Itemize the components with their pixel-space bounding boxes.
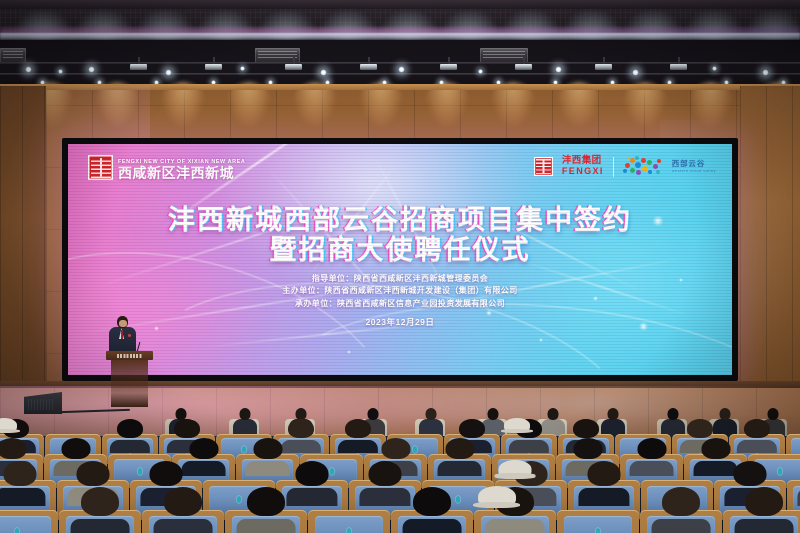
audience-member bbox=[189, 438, 218, 476]
ceiling-soffit bbox=[0, 0, 800, 9]
auditorium-seat bbox=[557, 510, 639, 533]
fengxi-seal-icon bbox=[534, 157, 553, 176]
stage-spotlight bbox=[440, 64, 457, 70]
lighting-truss-zone bbox=[0, 40, 800, 88]
cove-light-strip bbox=[0, 33, 800, 40]
audience-member bbox=[637, 438, 666, 476]
sponsor-logos: 沣西集团 FENGXI bbox=[534, 156, 716, 177]
stage-spotlight bbox=[515, 64, 532, 70]
auditorium-seat bbox=[0, 510, 58, 533]
stage-spotlight bbox=[285, 64, 302, 70]
audience-seating-area bbox=[0, 436, 800, 533]
conference-hall-photo: FENGXI NEW CITY OF XIXIAN NEW AREA 西咸新区沣… bbox=[0, 0, 800, 533]
ceiling-lamp bbox=[240, 66, 245, 71]
ceiling-lamp bbox=[632, 69, 639, 76]
cloud-valley-english: western cloud valley bbox=[672, 169, 716, 173]
stage-spotlight bbox=[595, 64, 612, 70]
ceiling-lamp bbox=[320, 69, 327, 76]
seat-number-tag bbox=[237, 496, 242, 503]
fengxi-group-chinese: 沣西集团 bbox=[562, 156, 604, 166]
lectern-plaque bbox=[117, 354, 142, 358]
event-date: 2023年12月29日 bbox=[68, 316, 732, 328]
stage-spotlight bbox=[360, 64, 377, 70]
audience-member bbox=[701, 438, 730, 476]
stage-spotlight bbox=[130, 64, 147, 70]
audience-member bbox=[295, 461, 328, 506]
audience-member bbox=[117, 419, 143, 453]
audience-cap bbox=[0, 418, 17, 432]
seat-number-tag bbox=[15, 528, 20, 533]
audience-member bbox=[164, 487, 202, 533]
fengxi-group-english: FENGXI bbox=[562, 167, 604, 176]
audience-member bbox=[587, 461, 620, 506]
spotlight-arm bbox=[138, 57, 140, 64]
seat-number-tag bbox=[596, 528, 601, 533]
hvac-diffuser bbox=[0, 48, 26, 63]
led-screen: FENGXI NEW CITY OF XIXIAN NEW AREA 西咸新区沣… bbox=[68, 144, 732, 375]
seat-number-tag bbox=[329, 468, 334, 475]
event-title: 沣西新城西部云谷招商项目集中签约 暨招商大使聘任仪式 bbox=[68, 206, 732, 266]
audience-member bbox=[288, 419, 314, 453]
audience-member bbox=[253, 438, 282, 476]
seat-number-tag bbox=[777, 468, 782, 475]
cloud-valley-dots-icon bbox=[623, 156, 663, 177]
spotlight-arm bbox=[678, 57, 680, 64]
organizer-unit-line: 承办单位：陕西省西咸新区信息产业园投资发展有限公司 bbox=[68, 298, 732, 310]
spotlight-arm bbox=[523, 57, 525, 64]
ceiling-lamp bbox=[762, 69, 769, 76]
spotlight-arm bbox=[213, 57, 215, 64]
logo-divider bbox=[613, 157, 614, 177]
ceiling-lamp bbox=[165, 69, 172, 76]
spotlight-arm bbox=[368, 57, 370, 64]
event-title-line-1: 沣西新城西部云谷招商项目集中签约 bbox=[68, 206, 732, 236]
audience-cap bbox=[478, 486, 516, 507]
ceiling-lamp bbox=[398, 66, 405, 73]
xixian-brand-lockup: FENGXI NEW CITY OF XIXIAN NEW AREA 西咸新区沣… bbox=[88, 155, 245, 180]
audience-member bbox=[345, 419, 371, 453]
auditorium-seat bbox=[308, 510, 390, 533]
ceiling-lamp bbox=[712, 66, 717, 71]
audience-member bbox=[745, 487, 783, 533]
led-screen-bezel: FENGXI NEW CITY OF XIXIAN NEW AREA 西咸新区沣… bbox=[62, 138, 738, 381]
audience-member bbox=[744, 419, 770, 453]
seat-number-tag bbox=[242, 446, 247, 453]
audience-member bbox=[445, 438, 474, 476]
spotlight-arm bbox=[293, 57, 295, 64]
hvac-diffuser bbox=[480, 48, 528, 63]
cloud-valley-chinese: 西部云谷 bbox=[672, 160, 716, 168]
ceiling-lamp bbox=[555, 66, 562, 73]
audience-member bbox=[662, 487, 700, 533]
audience-cap bbox=[504, 418, 530, 432]
ceiling-lamp bbox=[478, 69, 483, 74]
ceiling-lamp bbox=[88, 66, 95, 73]
audience-member bbox=[3, 461, 36, 506]
audience-member bbox=[413, 487, 451, 533]
ceiling-lamp bbox=[25, 66, 32, 73]
brand-chinese-name: 西咸新区沣西新城 bbox=[118, 166, 245, 180]
seal-stamp-icon bbox=[88, 155, 113, 180]
guiding-unit-line: 指导单位：陕西省西咸新区沣西新城管理委员会 bbox=[68, 273, 732, 285]
audience-member bbox=[81, 487, 119, 533]
ceiling-lamp bbox=[58, 69, 63, 74]
host-unit-line: 主办单位：陕西省西咸新区沣西新城开发建设（集团）有限公司 bbox=[68, 285, 732, 297]
lectern bbox=[106, 351, 153, 407]
audience-cap bbox=[499, 460, 532, 478]
event-title-line-2: 暨招商大使聘任仪式 bbox=[68, 236, 732, 266]
seat-number-tag bbox=[347, 528, 352, 533]
spotlight-arm bbox=[448, 57, 450, 64]
lighting-truss bbox=[0, 73, 800, 75]
stage-spotlight bbox=[670, 64, 687, 70]
audience-member bbox=[368, 461, 401, 506]
seat-number-tag bbox=[413, 446, 418, 453]
spotlight-arm bbox=[603, 57, 605, 64]
organizer-credits: 指导单位：陕西省西咸新区沣西新城管理委员会 主办单位：陕西省西咸新区沣西新城开发… bbox=[68, 273, 732, 310]
audience-member bbox=[247, 487, 285, 533]
seat-number-tag bbox=[137, 468, 142, 475]
stage-spotlight bbox=[205, 64, 222, 70]
seat-number-tag bbox=[456, 496, 461, 503]
